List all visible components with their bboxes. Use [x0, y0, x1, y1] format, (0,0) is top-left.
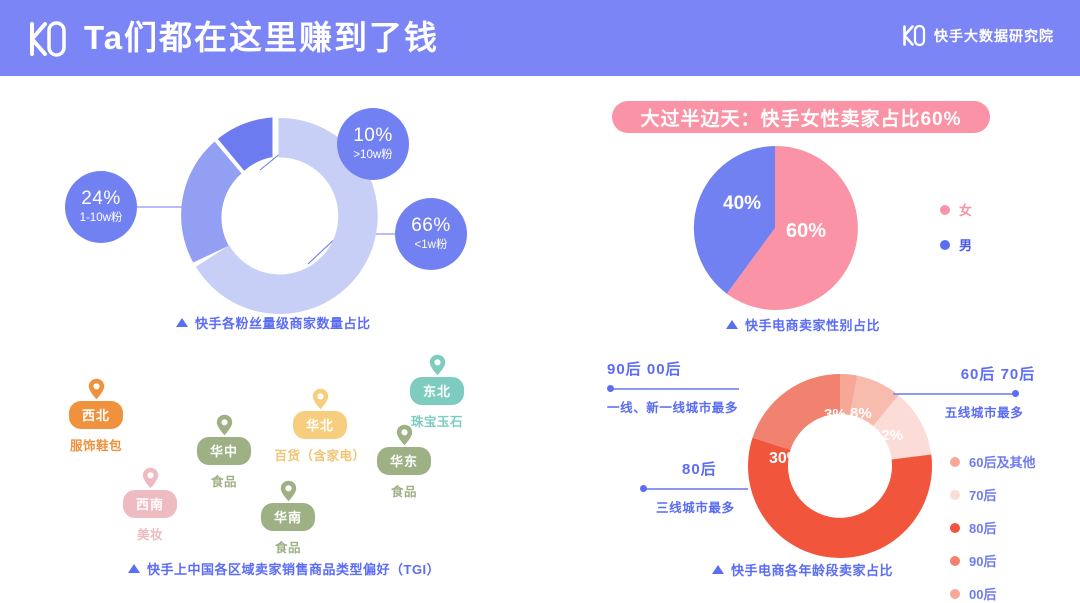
- legend-item-90s: 90后: [950, 551, 1035, 570]
- map-pin-xinan[interactable]: 西南 美妆: [90, 467, 210, 543]
- infographic-page: Ta们都在这里赚到了钱 快手大数据研究院: [0, 0, 1080, 602]
- fans-bubble-sub: 1-10w粉: [80, 212, 123, 225]
- annotation-leader-line: [607, 384, 817, 393]
- legend-dot-icon: [950, 457, 960, 467]
- annotation-leader-line: [640, 484, 850, 493]
- map-pin-huanan[interactable]: 华南 食品: [228, 480, 348, 556]
- leader-bar: [644, 488, 748, 490]
- leader-dot: [640, 485, 647, 492]
- map-pin-region: 华中: [197, 437, 251, 465]
- annotation-title: 60后 70后: [893, 363, 1080, 384]
- fans-bubble-sub: <1w粉: [415, 239, 448, 252]
- map-pin-category: 美妆: [137, 524, 163, 543]
- map-pin-region: 东北: [410, 377, 464, 405]
- map-pin-huadong[interactable]: 华东 食品: [344, 424, 464, 500]
- legend-label: 女: [959, 200, 972, 219]
- gender-chart-caption: 快手电商卖家性别占比: [726, 315, 880, 334]
- fans-bubble-sub: >10w粉: [353, 149, 392, 162]
- region-preference-map: 西北 服饰鞋包 东北 珠宝玉石 华北 百货（含家电） 华中: [40, 350, 560, 565]
- map-pin-xibei[interactable]: 西北 服饰鞋包: [36, 378, 156, 454]
- leader-bar: [893, 393, 1015, 395]
- caption-text: 快手电商卖家性别占比: [745, 315, 880, 334]
- caption-text: 快手各粉丝量级商家数量占比: [195, 313, 371, 332]
- map-marker-icon: [88, 378, 105, 400]
- gender-legend: 女 男: [940, 200, 972, 254]
- map-pin-region: 华北: [293, 411, 347, 439]
- gender-pie-chart: 60% 40%: [690, 143, 860, 313]
- legend-dot-icon: [940, 240, 950, 250]
- map-pin-region: 华东: [377, 447, 431, 475]
- legend-label: 70后: [969, 485, 996, 504]
- annotation-subtitle: 三线城市最多: [640, 497, 850, 516]
- fans-bubble-pct: 24%: [81, 188, 121, 210]
- region-map-caption: 快手上中国各区域卖家销售商品类型偏好（TGI）: [128, 559, 440, 578]
- fans-bubble-pct: 66%: [411, 215, 451, 237]
- legend-dot-icon: [950, 523, 960, 533]
- age-annotation-80s: 80后 三线城市最多: [640, 458, 850, 516]
- annotation-title: 80后: [640, 458, 850, 479]
- annotation-leader-line: [893, 389, 1080, 398]
- legend-item-00s: 00后: [950, 584, 1035, 603]
- map-marker-icon: [429, 354, 446, 376]
- brand-lockup: 快手大数据研究院: [902, 24, 1054, 47]
- age-annotation-60s-70s: 60后 70后 五线城市最多: [893, 363, 1080, 421]
- fans-bubble-1-10w: 24% 1-10w粉: [65, 171, 137, 243]
- legend-label: 男: [959, 235, 972, 254]
- fans-bubble-pct: 10%: [353, 125, 393, 147]
- fans-bubble-under-1w: 66% <1w粉: [395, 198, 467, 270]
- map-pin-category: 食品: [391, 481, 417, 500]
- legend-dot-icon: [950, 490, 960, 500]
- legend-label: 00后: [969, 584, 996, 603]
- legend-dot-icon: [940, 205, 950, 215]
- triangle-bullet-icon: [176, 318, 188, 327]
- fans-chart-caption: 快手各粉丝量级商家数量占比: [176, 313, 371, 332]
- kuaishou-logo-icon: [28, 20, 68, 58]
- annotation-title: 90后 00后: [607, 358, 817, 379]
- map-marker-icon: [216, 414, 233, 436]
- triangle-bullet-icon: [726, 320, 738, 329]
- age-chart-caption: 快手电商各年龄段卖家占比: [712, 560, 893, 579]
- brand-name: 快手大数据研究院: [934, 26, 1054, 46]
- map-marker-icon: [312, 388, 329, 410]
- leader-bar: [611, 388, 739, 390]
- map-marker-icon: [142, 467, 159, 489]
- triangle-bullet-icon: [712, 565, 724, 574]
- age-label-60s-other: 8%: [850, 405, 872, 422]
- gender-pie-svg: [690, 143, 860, 313]
- age-legend: 60后及其他 70后 80后 90后 00后: [950, 452, 1035, 603]
- gender-banner-text: 大过半边天：快手女性卖家占比60%: [640, 104, 961, 131]
- map-pin-category: 食品: [275, 537, 301, 556]
- map-pin-dongbei[interactable]: 东北 珠宝玉石: [377, 354, 497, 430]
- age-label-00s: 3%: [824, 406, 846, 423]
- legend-item-70s: 70后: [950, 485, 1035, 504]
- legend-dot-icon: [950, 556, 960, 566]
- map-pin-category: 服饰鞋包: [70, 435, 122, 454]
- gender-label-male: 40%: [723, 193, 761, 215]
- legend-label: 80后: [969, 518, 996, 537]
- map-marker-icon: [280, 480, 297, 502]
- map-pin-region: 华南: [261, 503, 315, 531]
- map-pin-region: 西南: [123, 490, 177, 518]
- page-header: Ta们都在这里赚到了钱 快手大数据研究院: [0, 0, 1080, 76]
- annotation-subtitle: 一线、新一线城市最多: [607, 397, 817, 416]
- legend-item-female: 女: [940, 200, 972, 219]
- fans-slice-1-10w: [181, 142, 241, 263]
- age-label-70s: 12%: [873, 427, 903, 444]
- gender-label-female: 60%: [786, 220, 826, 243]
- page-title: Ta们都在这里赚到了钱: [84, 16, 439, 60]
- fans-bubble-over-10w: 10% >10w粉: [337, 108, 409, 180]
- legend-item-60s-other: 60后及其他: [950, 452, 1035, 471]
- age-annotation-90s-00s: 90后 00后 一线、新一线城市最多: [607, 358, 817, 416]
- map-pin-region: 西北: [69, 401, 123, 429]
- triangle-bullet-icon: [128, 564, 140, 573]
- annotation-subtitle: 五线城市最多: [893, 402, 1080, 421]
- legend-label: 60后及其他: [969, 452, 1035, 471]
- legend-dot-icon: [950, 589, 960, 599]
- legend-item-male: 男: [940, 235, 972, 254]
- legend-item-80s: 80后: [950, 518, 1035, 537]
- gender-banner: 大过半边天：快手女性卖家占比60%: [612, 101, 990, 133]
- fans-donut-chart: 10% >10w粉 24% 1-10w粉 66% <1w粉: [60, 96, 560, 336]
- brand-logo-icon: [902, 24, 926, 47]
- caption-text: 快手电商各年龄段卖家占比: [731, 560, 893, 579]
- legend-label: 90后: [969, 551, 996, 570]
- leader-dot: [607, 385, 614, 392]
- map-marker-icon: [396, 424, 413, 446]
- caption-text: 快手上中国各区域卖家销售商品类型偏好（TGI）: [147, 559, 440, 578]
- leader-dot: [1012, 390, 1019, 397]
